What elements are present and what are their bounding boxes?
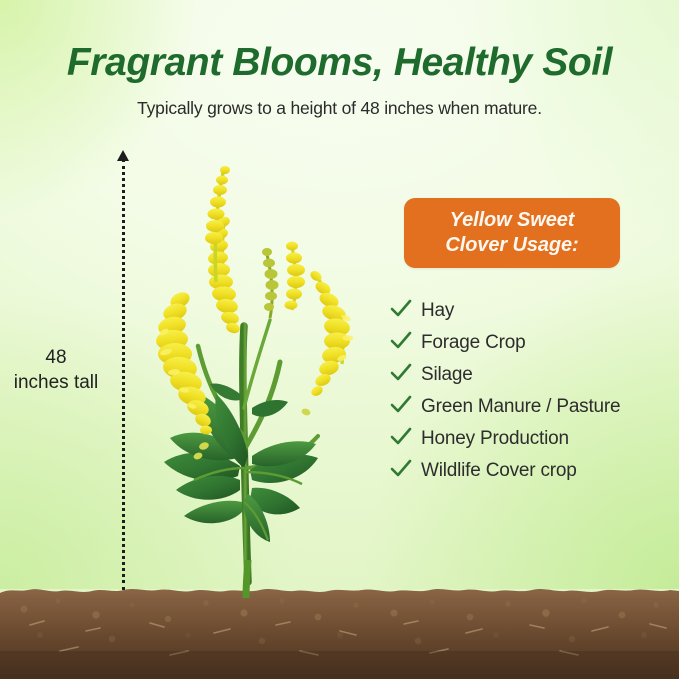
list-item: Silage <box>390 359 670 391</box>
usage-badge-line-2: Clover Usage: <box>445 233 578 258</box>
usage-badge-line-1: Yellow Sweet <box>445 208 578 233</box>
height-label: 48 inches tall <box>0 345 112 395</box>
check-icon <box>390 363 421 388</box>
usage-badge: Yellow Sweet Clover Usage: <box>404 198 620 268</box>
check-icon <box>390 395 421 420</box>
height-value: 48 <box>0 345 112 370</box>
list-item-label: Honey Production <box>421 428 569 450</box>
infographic-canvas: Fragrant Blooms, Healthy Soil Typically … <box>0 0 679 679</box>
page-subtitle: Typically grows to a height of 48 inches… <box>0 96 679 120</box>
list-item-label: Silage <box>421 364 473 386</box>
check-icon <box>390 459 421 484</box>
list-item: Forage Crop <box>390 327 670 359</box>
yellow-sweet-clover-plant <box>120 150 390 598</box>
list-item: Green Manure / Pasture <box>390 391 670 423</box>
check-icon <box>390 331 421 356</box>
list-item-label: Wildlife Cover crop <box>421 460 577 482</box>
soil-ground <box>0 579 679 679</box>
height-unit: inches tall <box>0 370 112 395</box>
check-icon <box>390 299 421 324</box>
check-icon <box>390 427 421 452</box>
usage-list: Hay Forage Crop Silage Green Manure / Pa… <box>390 295 670 487</box>
list-item-label: Hay <box>421 300 454 322</box>
list-item-label: Green Manure / Pasture <box>421 396 620 418</box>
usage-badge-text: Yellow Sweet Clover Usage: <box>445 208 578 258</box>
plant-stem-base <box>240 560 254 598</box>
page-title: Fragrant Blooms, Healthy Soil <box>0 41 679 85</box>
list-item-label: Forage Crop <box>421 332 525 354</box>
list-item: Honey Production <box>390 423 670 455</box>
list-item: Hay <box>390 295 670 327</box>
list-item: Wildlife Cover crop <box>390 455 670 487</box>
